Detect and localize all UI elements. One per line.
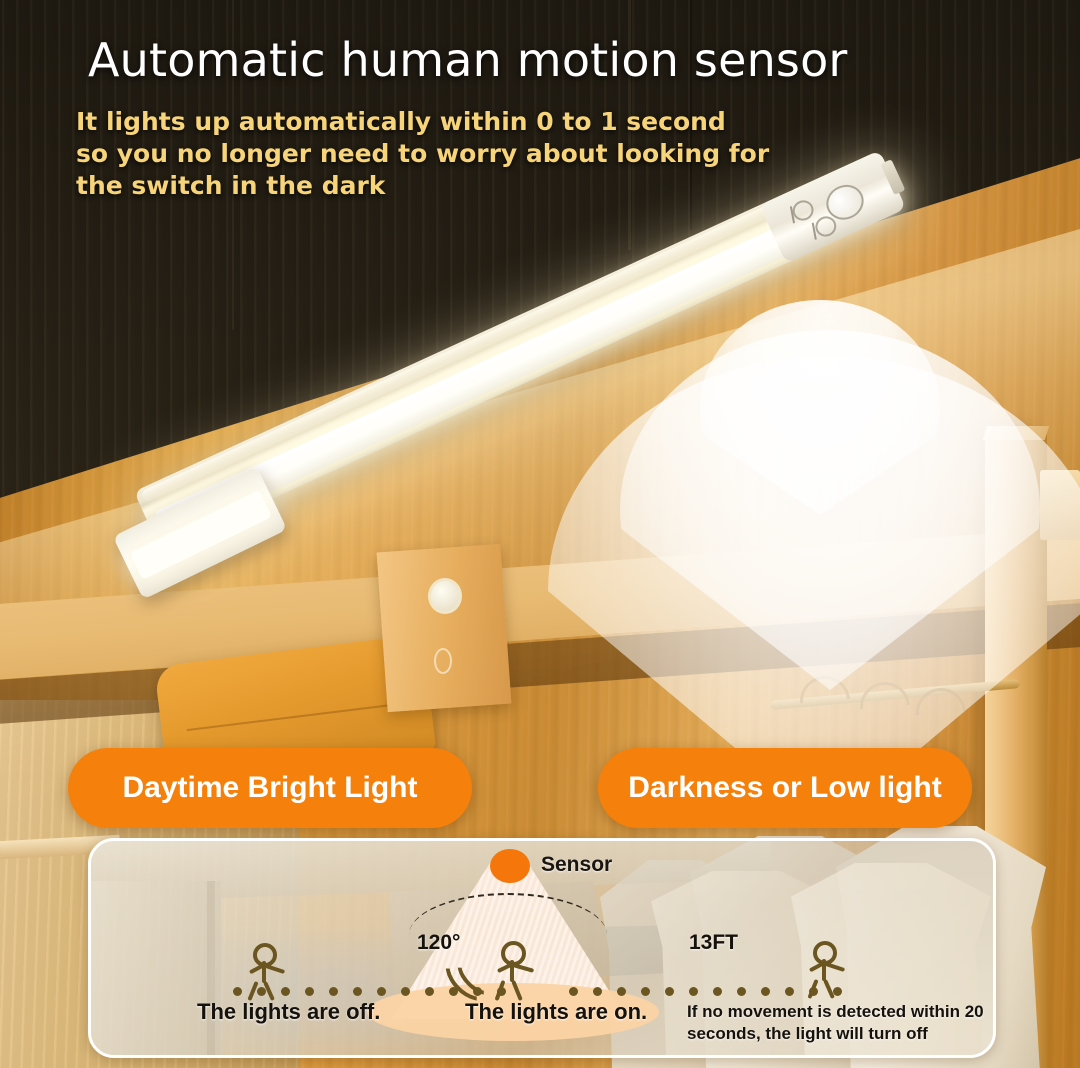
sensor-label: Sensor (541, 853, 612, 877)
diagram-left-wall (91, 881, 221, 1058)
dotted-path-icon (91, 987, 993, 999)
sensor-dot-icon (490, 849, 530, 883)
caption-timeout-line-2: seconds, the light will turn off (687, 1023, 987, 1045)
walking-person-icon (243, 943, 295, 1003)
page-title: Automatic human motion sensor (88, 33, 1008, 87)
subtitle-line-3: the switch in the dark (76, 170, 756, 202)
caption-timeout: If no movement is detected within 20 sec… (687, 1001, 987, 1045)
door-knob (428, 578, 462, 614)
subtitle-line-2: so you no longer need to worry about loo… (76, 138, 756, 170)
detection-range-label: 13FT (689, 931, 738, 955)
daytime-bright-light-pill[interactable]: Daytime Bright Light (68, 748, 472, 828)
subtitle-block: It lights up automatically within 0 to 1… (76, 106, 756, 202)
walking-person-icon (803, 941, 855, 1001)
product-feature-image: Automatic human motion sensor It lights … (0, 0, 1080, 1068)
darkness-or-low-light-pill[interactable]: Darkness or Low light (598, 748, 972, 828)
caption-lights-off: The lights are off. (197, 999, 380, 1025)
caption-lights-on: The lights are on. (465, 999, 647, 1025)
motion-waves-icon (447, 945, 481, 999)
caption-timeout-line-1: If no movement is detected within 20 (687, 1001, 987, 1023)
sensor-range-diagram-panel: Sensor 120° 13FT (88, 838, 996, 1058)
subtitle-line-1: It lights up automatically within 0 to 1… (76, 106, 756, 138)
door-knob-small (434, 648, 452, 674)
